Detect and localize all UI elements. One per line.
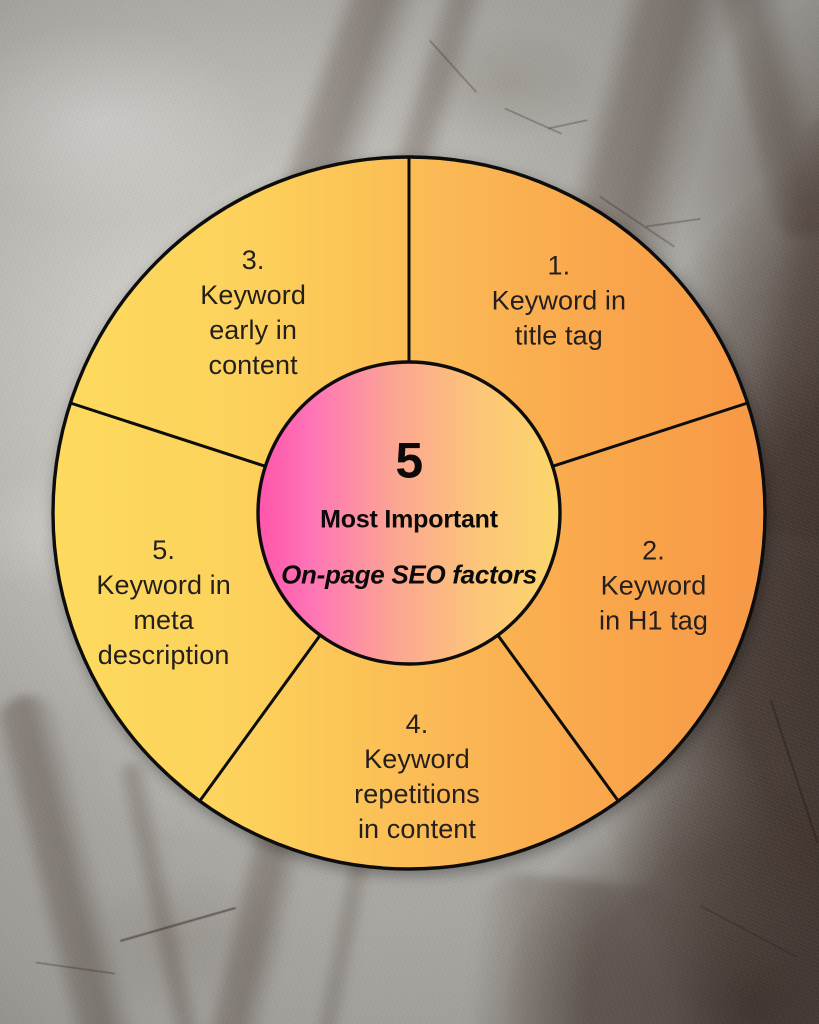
wheel-body xyxy=(53,157,765,869)
seo-factors-wheel xyxy=(0,0,819,1024)
infographic-canvas: 1. Keyword in title tag 2. Keyword in H1… xyxy=(0,0,819,1024)
wheel-center-circle xyxy=(258,362,560,664)
